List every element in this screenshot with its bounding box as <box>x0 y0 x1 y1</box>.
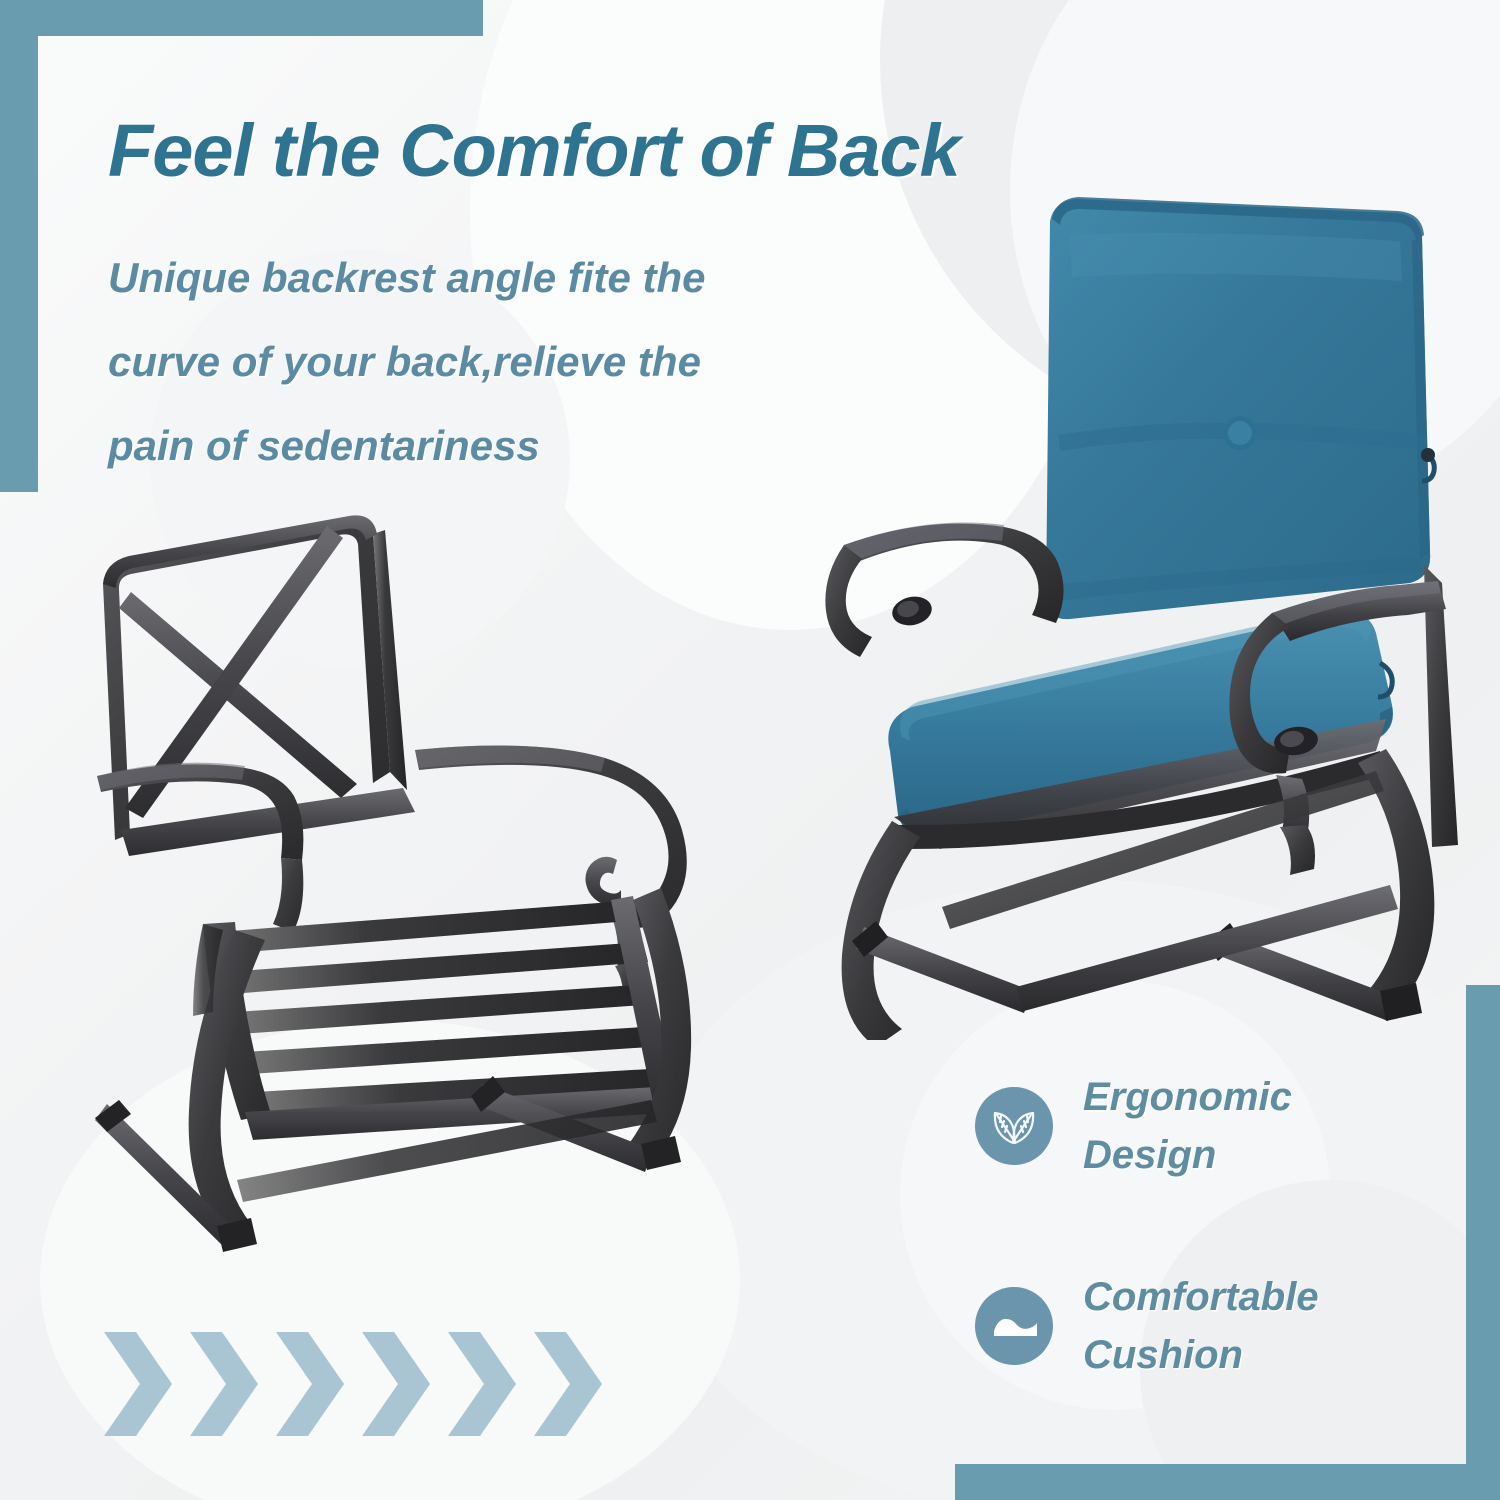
subtitle-line: pain of sedentariness <box>108 404 898 488</box>
back-cushion <box>1046 197 1435 619</box>
product-image-cushioned-chair <box>820 185 1470 1040</box>
corner-frame-icon <box>0 0 38 492</box>
feature-badge-ergonomic: Ergonomic Design <box>975 1068 1292 1184</box>
subtitle-line: curve of your back,relieve the <box>108 320 898 404</box>
chevron-right-icon <box>444 1330 518 1438</box>
left-armrest <box>825 523 1063 658</box>
feature-badge-label: Comfortable Cushion <box>1083 1268 1319 1384</box>
feature-badge-cushion: Comfortable Cushion <box>975 1268 1319 1384</box>
feature-label-line: Cushion <box>1083 1326 1319 1384</box>
corner-frame-icon <box>0 0 483 36</box>
chevron-right-icon <box>272 1330 346 1438</box>
chevron-right-icon <box>100 1330 174 1438</box>
subtitle: Unique backrest angle fite the curve of … <box>108 236 898 488</box>
feature-label-line: Comfortable <box>1083 1268 1319 1326</box>
chevron-right-icon <box>358 1330 432 1438</box>
feature-label-line: Design <box>1083 1126 1292 1184</box>
product-banner: Feel the Comfort of Back Unique backrest… <box>0 0 1500 1500</box>
chevron-right-icon <box>186 1330 260 1438</box>
chevron-arrow-group <box>100 1330 604 1438</box>
chevron-right-icon <box>530 1330 604 1438</box>
feature-label-line: Ergonomic <box>1083 1068 1292 1126</box>
product-image-frame-chair <box>85 500 745 1290</box>
leaf-icon <box>975 1087 1053 1165</box>
cushion-icon <box>975 1287 1053 1365</box>
feature-badge-label: Ergonomic Design <box>1083 1068 1292 1184</box>
corner-frame-icon <box>1466 985 1500 1500</box>
page-title: Feel the Comfort of Back <box>108 108 960 193</box>
subtitle-line: Unique backrest angle fite the <box>108 236 898 320</box>
corner-frame-icon <box>955 1464 1500 1500</box>
